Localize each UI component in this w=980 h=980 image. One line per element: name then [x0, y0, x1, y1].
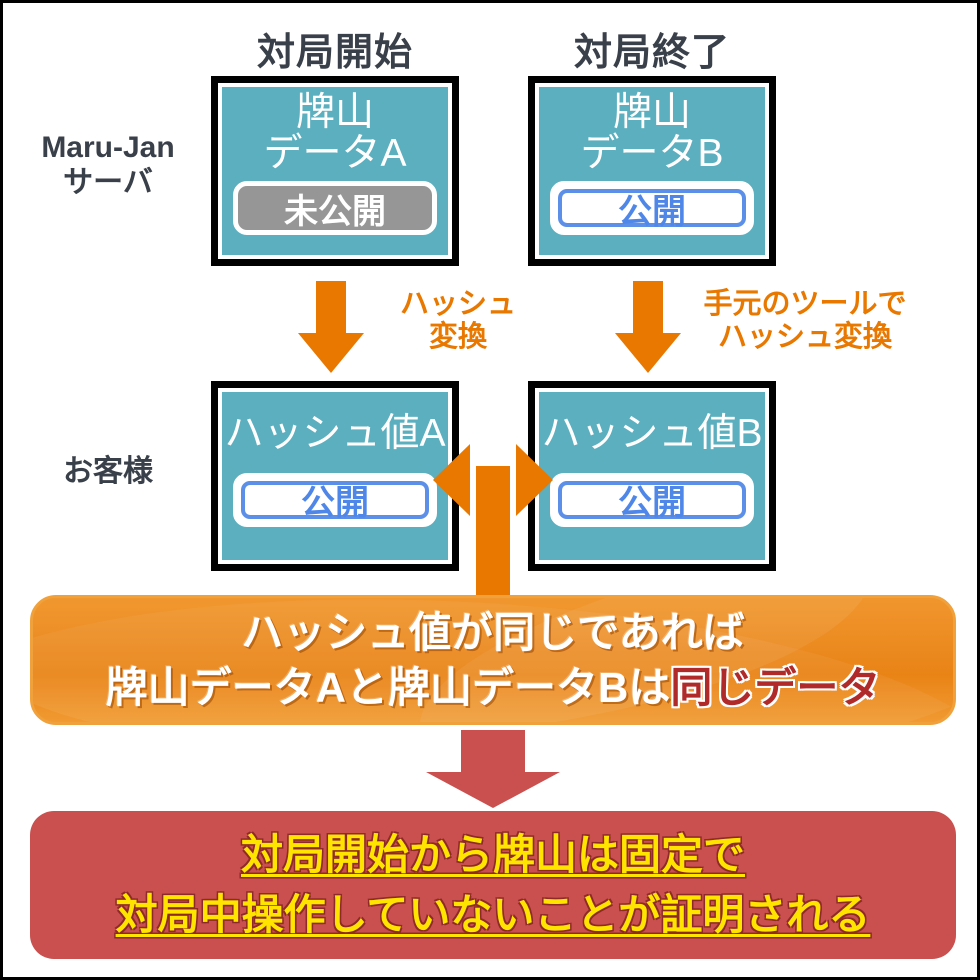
box-title-line1: ハッシュ値A	[225, 414, 446, 455]
arrow-hash-convert-right-icon	[615, 281, 681, 373]
badge-public-hash-value-b: 公開	[550, 473, 754, 527]
banner-final-conclusion-text: 対局開始から牌山は固定で 対局中操作していないことが証明される	[116, 825, 871, 944]
arrow-hash-convert-left-icon	[298, 281, 364, 373]
column-header-game-start: 対局開始	[211, 21, 459, 76]
box-wall-data-b: 牌山 データB 公開	[528, 76, 776, 266]
banner-line-2: 牌山データAと牌山データBは同じデータ	[106, 660, 881, 715]
arrow-label-line1: 手元のツールで	[680, 288, 930, 321]
diagram-canvas: 対局開始 対局終了 Maru-Jan サーバ お客様 牌山 データA 未公開 牌…	[0, 0, 980, 980]
arrow-label-line1: ハッシュ	[363, 288, 553, 321]
box-wall-data-b-title: 牌山 データB	[580, 93, 723, 174]
badge-public-hash-value-b-label: 公開	[558, 481, 746, 519]
arrow-compare-hashes-icon	[433, 430, 553, 615]
box-hash-value-b-title: ハッシュ値B	[542, 414, 763, 455]
box-hash-value-a-title: ハッシュ値A	[225, 414, 446, 455]
badge-public-hash-value-a-label: 公開	[241, 481, 429, 519]
red-banner-line-1: 対局開始から牌山は固定で	[116, 825, 871, 885]
row-label-customer-line1: お客様	[13, 455, 203, 490]
red-banner-line-2: 対局中操作していないことが証明される	[116, 885, 871, 945]
banner-line-1: ハッシュ値が同じであれば	[106, 605, 881, 660]
arrow-label-hash-convert-left: ハッシュ 変換	[363, 288, 553, 355]
banner-line-2-highlight: 同じデータ	[670, 664, 880, 711]
box-wall-data-a-title: 牌山 データA	[263, 93, 406, 174]
box-hash-value-b: ハッシュ値B 公開	[528, 381, 776, 571]
row-label-customer: お客様	[13, 455, 203, 490]
badge-public-wall-data-b-label: 公開	[558, 189, 746, 227]
box-title-line1: 牌山	[263, 93, 406, 134]
badge-public-wall-data-b: 公開	[550, 181, 754, 235]
banner-hash-match-text: ハッシュ値が同じであれば 牌山データAと牌山データBは同じデータ	[106, 605, 881, 716]
badge-private-wall-data-a: 未公開	[233, 181, 437, 235]
arrow-label-line2: 変換	[363, 321, 553, 354]
banner-final-conclusion: 対局開始から牌山は固定で 対局中操作していないことが証明される	[30, 811, 956, 959]
banner-line-2-prefix: 牌山データAと牌山データBは	[106, 664, 671, 711]
box-title-line1: ハッシュ値B	[542, 414, 763, 455]
arrow-label-hash-convert-right: 手元のツールで ハッシュ変換	[680, 288, 930, 355]
box-title-line1: 牌山	[580, 93, 723, 134]
badge-public-hash-value-a: 公開	[233, 473, 437, 527]
column-header-game-end: 対局終了	[528, 21, 776, 76]
row-label-server: Maru-Jan サーバ	[13, 131, 203, 200]
box-wall-data-a: 牌山 データA 未公開	[211, 76, 459, 266]
box-title-line2: データA	[263, 134, 406, 175]
row-label-server-line2: サーバ	[13, 166, 203, 201]
arrow-label-line2: ハッシュ変換	[680, 321, 930, 354]
banner-hash-match-conclusion: ハッシュ値が同じであれば 牌山データAと牌山データBは同じデータ	[30, 595, 956, 725]
box-hash-value-a: ハッシュ値A 公開	[211, 381, 459, 571]
arrow-final-conclusion-icon	[426, 730, 560, 808]
box-title-line2: データB	[580, 134, 723, 175]
row-label-server-line1: Maru-Jan	[13, 131, 203, 166]
